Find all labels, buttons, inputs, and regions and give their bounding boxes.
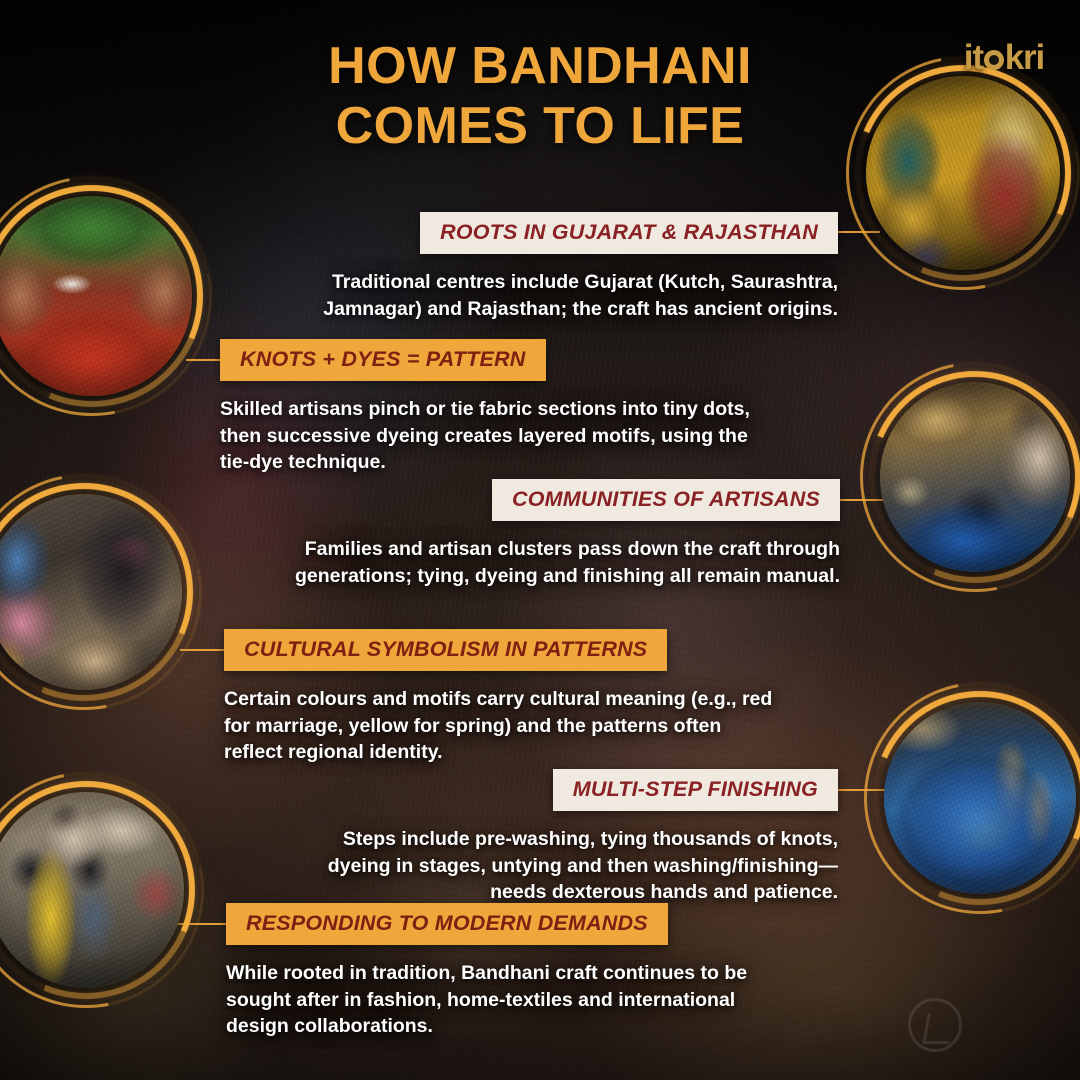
photo-yellow-lift (0, 792, 184, 988)
brand-logo[interactable]: itkri (964, 38, 1044, 78)
brand-logo-text-1: it (964, 38, 983, 77)
section-heading-2: KNOTS + DYES = PATTERN (220, 339, 546, 381)
section-heading-6: RESPONDING TO MODERN DEMANDS (226, 903, 668, 945)
section-communities-of-artisans: COMMUNITIES OF ARTISANS Families and art… (240, 479, 840, 589)
section-body-3: Families and artisan clusters pass down … (240, 536, 840, 589)
brand-logo-circle-icon (984, 50, 1004, 70)
section-body-2: Skilled artisans pinch or tie fabric sec… (220, 396, 760, 476)
brand-logo-text-2: kri (1005, 38, 1044, 77)
photo-tying-pair (866, 76, 1060, 270)
section-roots-in-gujarat-rajasthan: ROOTS IN GUJARAT & RAJASTHAN Traditional… (268, 212, 838, 322)
infographic-poster: HOW BANDHANI COMES TO LIFE itkri (0, 0, 1080, 1080)
background-watermark (908, 998, 962, 1052)
section-body-1: Traditional centres include Gujarat (Kut… (268, 269, 838, 322)
section-multi-step-finishing: MULTI-STEP FINISHING Steps include pre-w… (300, 769, 838, 906)
photo-dyer-tub (880, 382, 1070, 572)
section-body-6: While rooted in tradition, Bandhani craf… (226, 960, 778, 1040)
section-heading-1: ROOTS IN GUJARAT & RAJASTHAN (420, 212, 838, 254)
photo-indigo-vat (884, 702, 1076, 894)
section-body-4: Certain colours and motifs carry cultura… (224, 686, 784, 766)
section-knots-dyes-pattern: KNOTS + DYES = PATTERN Skilled artisans … (220, 339, 760, 476)
photo-hands-red (0, 196, 192, 396)
section-heading-4: CULTURAL SYMBOLISM IN PATTERNS (224, 629, 667, 671)
section-responding-to-modern-demands: RESPONDING TO MODERN DEMANDS While roote… (226, 903, 778, 1040)
photo-women-knot (0, 494, 182, 690)
section-body-5: Steps include pre-washing, tying thousan… (300, 826, 838, 906)
section-cultural-symbolism-in-patterns: CULTURAL SYMBOLISM IN PATTERNS Certain c… (224, 629, 784, 766)
section-heading-5: MULTI-STEP FINISHING (553, 769, 838, 811)
section-heading-3: COMMUNITIES OF ARTISANS (492, 479, 840, 521)
